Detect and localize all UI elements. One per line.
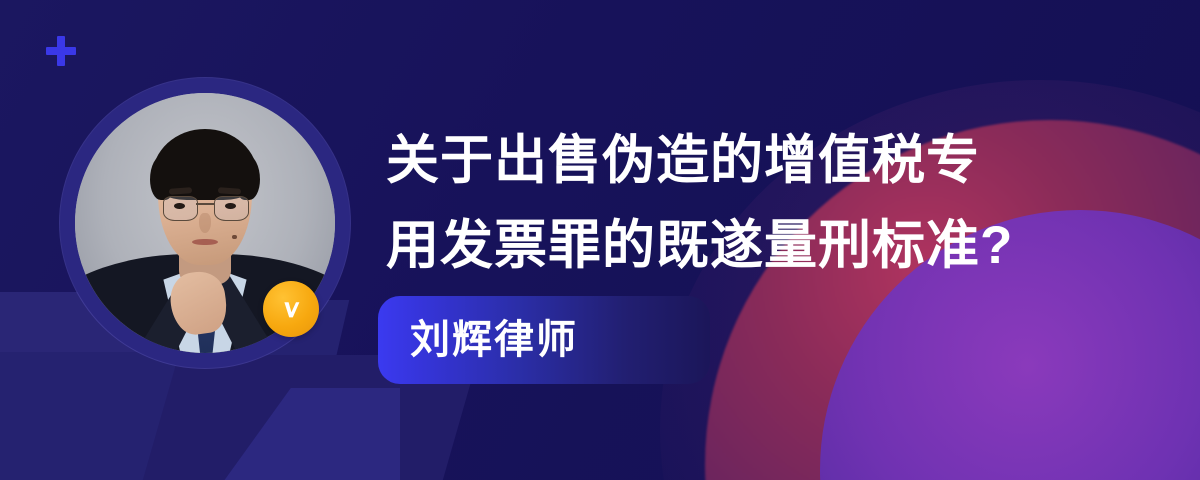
portrait-nose: [199, 213, 211, 234]
lawyer-name-badge[interactable]: 刘辉律师: [378, 296, 710, 384]
portrait-eye-left: [174, 203, 184, 209]
page-title-line-2: 用发票罪的既遂量刑标准?: [386, 203, 1106, 288]
verified-v-icon: [263, 281, 319, 337]
plus-icon: [46, 36, 76, 66]
portrait-eye-right: [225, 203, 235, 209]
avatar[interactable]: [60, 78, 350, 368]
page-title: 关于出售伪造的增值税专 用发票罪的既遂量刑标准?: [386, 118, 1106, 288]
page-title-line-1: 关于出售伪造的增值税专: [386, 118, 1106, 203]
portrait-glasses-bridge: [196, 203, 214, 205]
lawyer-question-banner: 关于出售伪造的增值税专 用发票罪的既遂量刑标准? 刘辉律师: [0, 0, 1200, 480]
lawyer-name-label: 刘辉律师: [410, 320, 578, 360]
